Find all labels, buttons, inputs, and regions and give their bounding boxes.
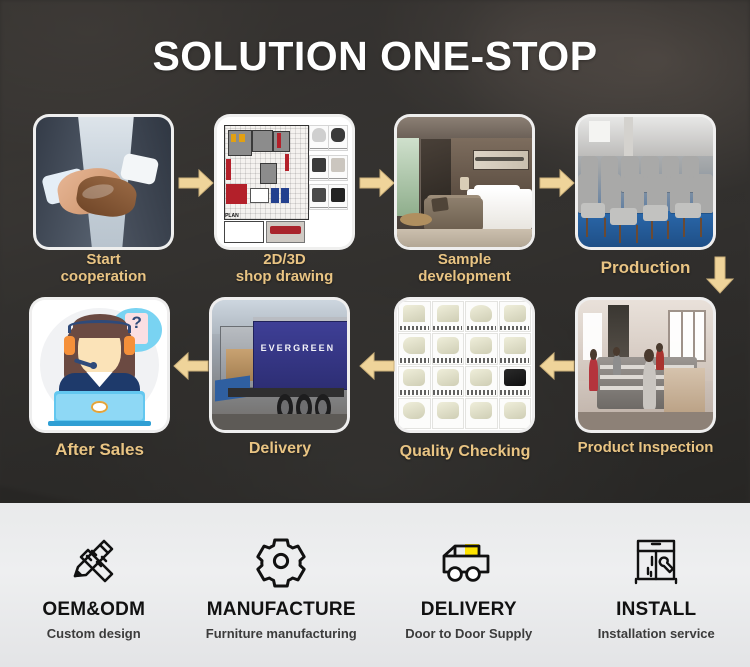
evergreen-container-truck-photo: EVERGREEN: [212, 300, 347, 430]
customer-service-illustration: ?: [32, 300, 167, 430]
flow-label-production: Production: [568, 258, 723, 277]
ruler-pencil-icon: [67, 533, 121, 589]
arrow-down-icon: [705, 255, 735, 295]
feature-title-oem-odm: OEM&ODM: [42, 599, 145, 621]
flow-label-after-sales: After Sales: [22, 440, 177, 459]
feature-title-delivery: DELIVERY: [421, 599, 517, 621]
feature-install[interactable]: INSTALL Installation service: [563, 503, 750, 667]
arrow-left-icon-1: [538, 350, 576, 382]
flow-label-quality-checking: Quality Checking: [385, 443, 545, 461]
arrow-right-icon-2: [358, 167, 396, 199]
flow-card-start-cooperation[interactable]: [36, 117, 171, 247]
flow-card-delivery[interactable]: EVERGREEN: [212, 300, 347, 430]
factory-inspection-photo: [578, 300, 713, 430]
hotel-bedroom-photo: [397, 117, 532, 247]
cabinet-wrench-icon: [631, 533, 681, 589]
flow-card-production[interactable]: [578, 117, 713, 247]
arrow-right-icon-3: [538, 167, 576, 199]
feature-delivery[interactable]: DELIVERY Door to Door Supply: [375, 503, 563, 667]
flow-card-shop-drawing[interactable]: PLAN: [217, 117, 352, 247]
feature-subtitle-install: Installation service: [598, 626, 715, 641]
arrow-left-icon-2: [358, 350, 396, 382]
flow-label-shop-drawing: 2D/3D shop drawing: [207, 252, 362, 286]
feature-title-manufacture: MANUFACTURE: [207, 599, 356, 621]
flow-card-quality-checking[interactable]: [397, 300, 532, 430]
feature-title-install: INSTALL: [616, 599, 696, 621]
feature-subtitle-delivery: Door to Door Supply: [405, 626, 532, 641]
container-brand-text: EVERGREEN: [261, 343, 342, 364]
promo-banner: SOLUTION ONE-STOP Start cooperation: [0, 0, 750, 667]
flow-card-product-inspection[interactable]: [578, 300, 713, 430]
arrow-left-icon-3: [172, 350, 210, 382]
truck-icon: [439, 533, 499, 589]
arrow-right-icon-1: [177, 167, 215, 199]
feature-manufacture[interactable]: MANUFACTURE Furniture manufacturing: [188, 503, 376, 667]
feature-subtitle-oem-odm: Custom design: [47, 626, 141, 641]
page-title: SOLUTION ONE-STOP: [0, 33, 750, 80]
flow-label-product-inspection: Product Inspection: [558, 440, 733, 457]
furniture-model-grid: [397, 300, 532, 430]
chair-production-photo: [578, 117, 713, 247]
hero-section: SOLUTION ONE-STOP Start cooperation: [0, 0, 750, 503]
feature-oem-odm[interactable]: OEM&ODM Custom design: [0, 503, 188, 667]
floor-plan-drawing: PLAN: [217, 117, 352, 247]
handshake-photo: [36, 117, 171, 247]
feature-bar: OEM&ODM Custom design MANUFACTURE Furnit…: [0, 503, 750, 667]
flow-label-delivery: Delivery: [205, 440, 355, 458]
flow-label-start-cooperation: Start cooperation: [26, 252, 181, 286]
plan-label: PLAN: [225, 213, 239, 219]
flow-card-sample-development[interactable]: [397, 117, 532, 247]
flow-label-sample-development: Sample development: [387, 252, 542, 286]
feature-subtitle-manufacture: Furniture manufacturing: [206, 626, 357, 641]
gear-icon: [254, 533, 308, 589]
flow-card-after-sales[interactable]: ?: [32, 300, 167, 430]
